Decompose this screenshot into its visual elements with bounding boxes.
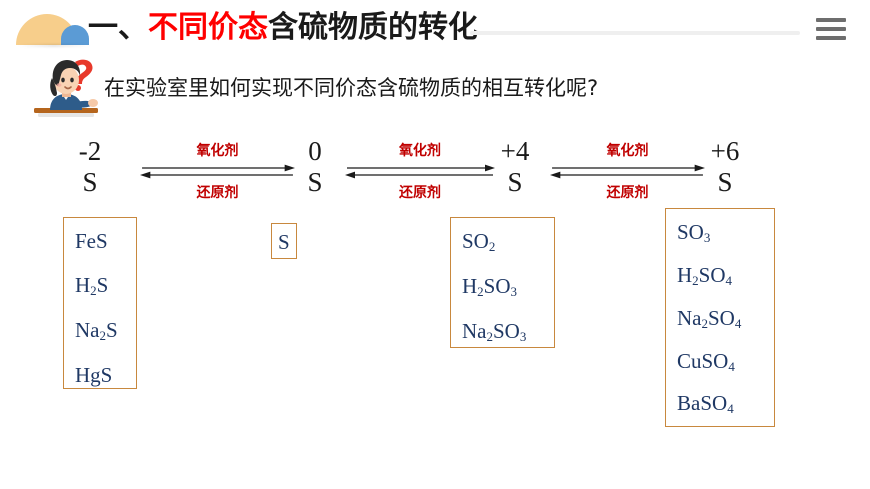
hamburger-bar-2: [816, 27, 846, 31]
formula-text: H: [677, 263, 692, 287]
oxidant-label: 氧化剂: [140, 140, 295, 160]
chemical-formula: Na2SO3: [462, 321, 554, 343]
species-box-zero: S: [271, 223, 297, 259]
chemical-formula: FeS: [75, 231, 136, 252]
question-row: 在实验室里如何实现不同价态含硫物质的相互转化呢?: [0, 58, 870, 120]
species-box-minus2: FeSH2SNa2SHgS: [63, 217, 137, 389]
formula-text: Na: [677, 306, 702, 330]
formula-text: SO: [708, 306, 735, 330]
hamburger-bar-3: [816, 36, 846, 40]
formula-text: Na: [462, 319, 487, 343]
chemical-formula: Na2S: [75, 320, 136, 342]
chemical-formula: HgS: [75, 365, 136, 386]
hamburger-bar-1: [816, 18, 846, 22]
formula-text: Na: [75, 318, 100, 342]
element-symbol: S: [60, 166, 120, 198]
formula-subscript: 3: [520, 329, 527, 344]
sulfur-oxidation-chain: -2S0S+4S+6S氧化剂还原剂氧化剂还原剂氧化剂还原剂: [60, 136, 820, 202]
semicircle-decoration-icon: [16, 11, 90, 45]
oxidant-label: 氧化剂: [550, 140, 705, 160]
chemical-formula: S: [278, 232, 296, 253]
chemical-formula: H2SO4: [677, 265, 774, 287]
reductant-label: 还原剂: [140, 182, 295, 202]
formula-subscript: 4: [735, 316, 742, 331]
formula-text: H: [462, 274, 477, 298]
formula-subscript: 4: [728, 358, 735, 373]
formula-text: FeS: [75, 229, 108, 253]
chemical-formula: BaSO4: [677, 393, 774, 415]
chemical-formula: Na2SO4: [677, 308, 774, 330]
formula-text: SO: [493, 319, 520, 343]
formula-subscript: 4: [726, 273, 733, 288]
title-segment-0: 一、: [88, 10, 148, 45]
formula-text: S: [106, 318, 118, 342]
chemical-formula: H2S: [75, 275, 136, 297]
oxidation-node-0: -2S: [60, 136, 120, 198]
reaction-arrow-group-2: 氧化剂还原剂: [550, 140, 705, 202]
header-divider: [470, 31, 800, 35]
oxidant-label: 氧化剂: [345, 140, 495, 160]
reaction-arrow-group-0: 氧化剂还原剂: [140, 140, 295, 202]
formula-text: SO: [699, 263, 726, 287]
page-header: 一、不同价态含硫物质的转化: [0, 0, 870, 58]
page-title: 一、不同价态含硫物质的转化: [88, 8, 478, 48]
question-text: 在实验室里如何实现不同价态含硫物质的相互转化呢?: [104, 72, 598, 102]
formula-subscript: 4: [727, 401, 734, 416]
double-arrow-icon: [140, 164, 295, 180]
chemical-formula: H2SO3: [462, 276, 554, 298]
formula-text: SO: [484, 274, 511, 298]
formula-text: BaSO: [677, 391, 727, 415]
formula-subscript: 2: [489, 239, 496, 254]
oxidation-state-label: -2: [60, 136, 120, 166]
formula-text: S: [97, 273, 109, 297]
reaction-arrow-group-1: 氧化剂还原剂: [345, 140, 495, 202]
formula-text: H: [75, 273, 90, 297]
hamburger-menu-icon[interactable]: [816, 18, 846, 40]
reductant-label: 还原剂: [550, 182, 705, 202]
formula-text: SO: [677, 220, 704, 244]
semicircle-shadow: [18, 44, 90, 47]
formula-text: CuSO: [677, 349, 728, 373]
chemical-formula: SO2: [462, 231, 554, 253]
double-arrow-icon: [550, 164, 705, 180]
double-arrow-icon: [345, 164, 495, 180]
title-segment-2: 含硫物质的转化: [268, 10, 478, 45]
formula-text: HgS: [75, 363, 112, 387]
formula-text: SO: [462, 229, 489, 253]
formula-text: S: [278, 230, 290, 254]
chemical-formula: SO3: [677, 222, 774, 244]
chemical-formula: CuSO4: [677, 351, 774, 373]
thinking-student-icon: [28, 58, 110, 120]
title-segment-1: 不同价态: [148, 10, 268, 45]
species-box-plus4: SO2H2SO3Na2SO3: [450, 217, 555, 348]
formula-subscript: 3: [511, 284, 518, 299]
semicircle-small: [61, 25, 89, 45]
species-box-plus6: SO3H2SO4Na2SO4CuSO4BaSO4: [665, 208, 775, 427]
reductant-label: 还原剂: [345, 182, 495, 202]
formula-subscript: 3: [704, 230, 711, 245]
